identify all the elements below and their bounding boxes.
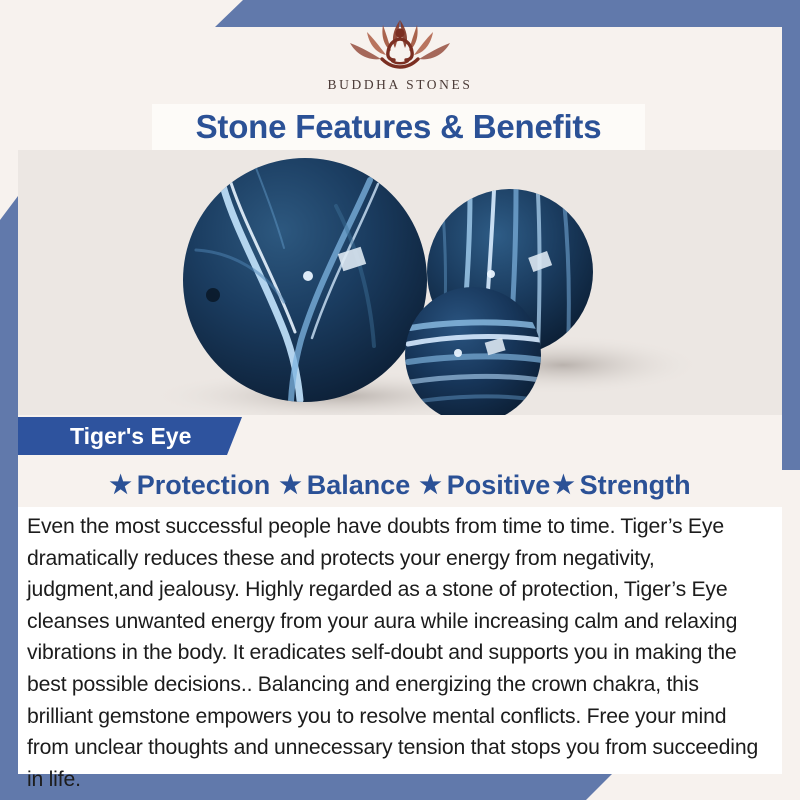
- description-text: Even the most successful people have dou…: [27, 511, 768, 795]
- lotus-meditation-icon: [334, 14, 466, 76]
- benefit-item-protection: ★ Protection: [109, 470, 270, 501]
- star-icon: ★: [279, 473, 301, 498]
- star-icon: ★: [109, 473, 131, 498]
- benefit-label: Balance: [307, 470, 411, 501]
- star-icon: ★: [552, 473, 574, 498]
- star-icon: ★: [419, 473, 441, 498]
- hero-image: [18, 150, 782, 415]
- brand-logo: BUDDHA STONES: [0, 14, 800, 102]
- decorative-bar-left: [0, 196, 18, 800]
- stone-name-label: Tiger's Eye: [18, 423, 191, 450]
- poster-root: BUDDHA STONES Stone Features & Benefits: [0, 0, 800, 800]
- benefit-label: Positive: [447, 470, 551, 501]
- page-title: Stone Features & Benefits: [196, 108, 602, 146]
- page-title-band: Stone Features & Benefits: [152, 104, 645, 150]
- description-panel: Even the most successful people have dou…: [18, 507, 782, 774]
- benefit-item-balance: ★ Balance: [279, 470, 410, 501]
- benefit-label: Strength: [580, 470, 691, 501]
- benefit-item-positive: ★ Positive: [419, 470, 550, 501]
- benefit-item-strength: ★ Strength: [552, 470, 690, 501]
- stone-name-ribbon: Tiger's Eye: [18, 417, 242, 455]
- benefits-list: ★ Protection ★ Balance ★ Positive ★ Stre…: [18, 463, 782, 507]
- tigers-eye-spheres-illustration: [18, 150, 782, 415]
- benefit-label: Protection: [137, 470, 271, 501]
- brand-wordmark: BUDDHA STONES: [328, 77, 473, 93]
